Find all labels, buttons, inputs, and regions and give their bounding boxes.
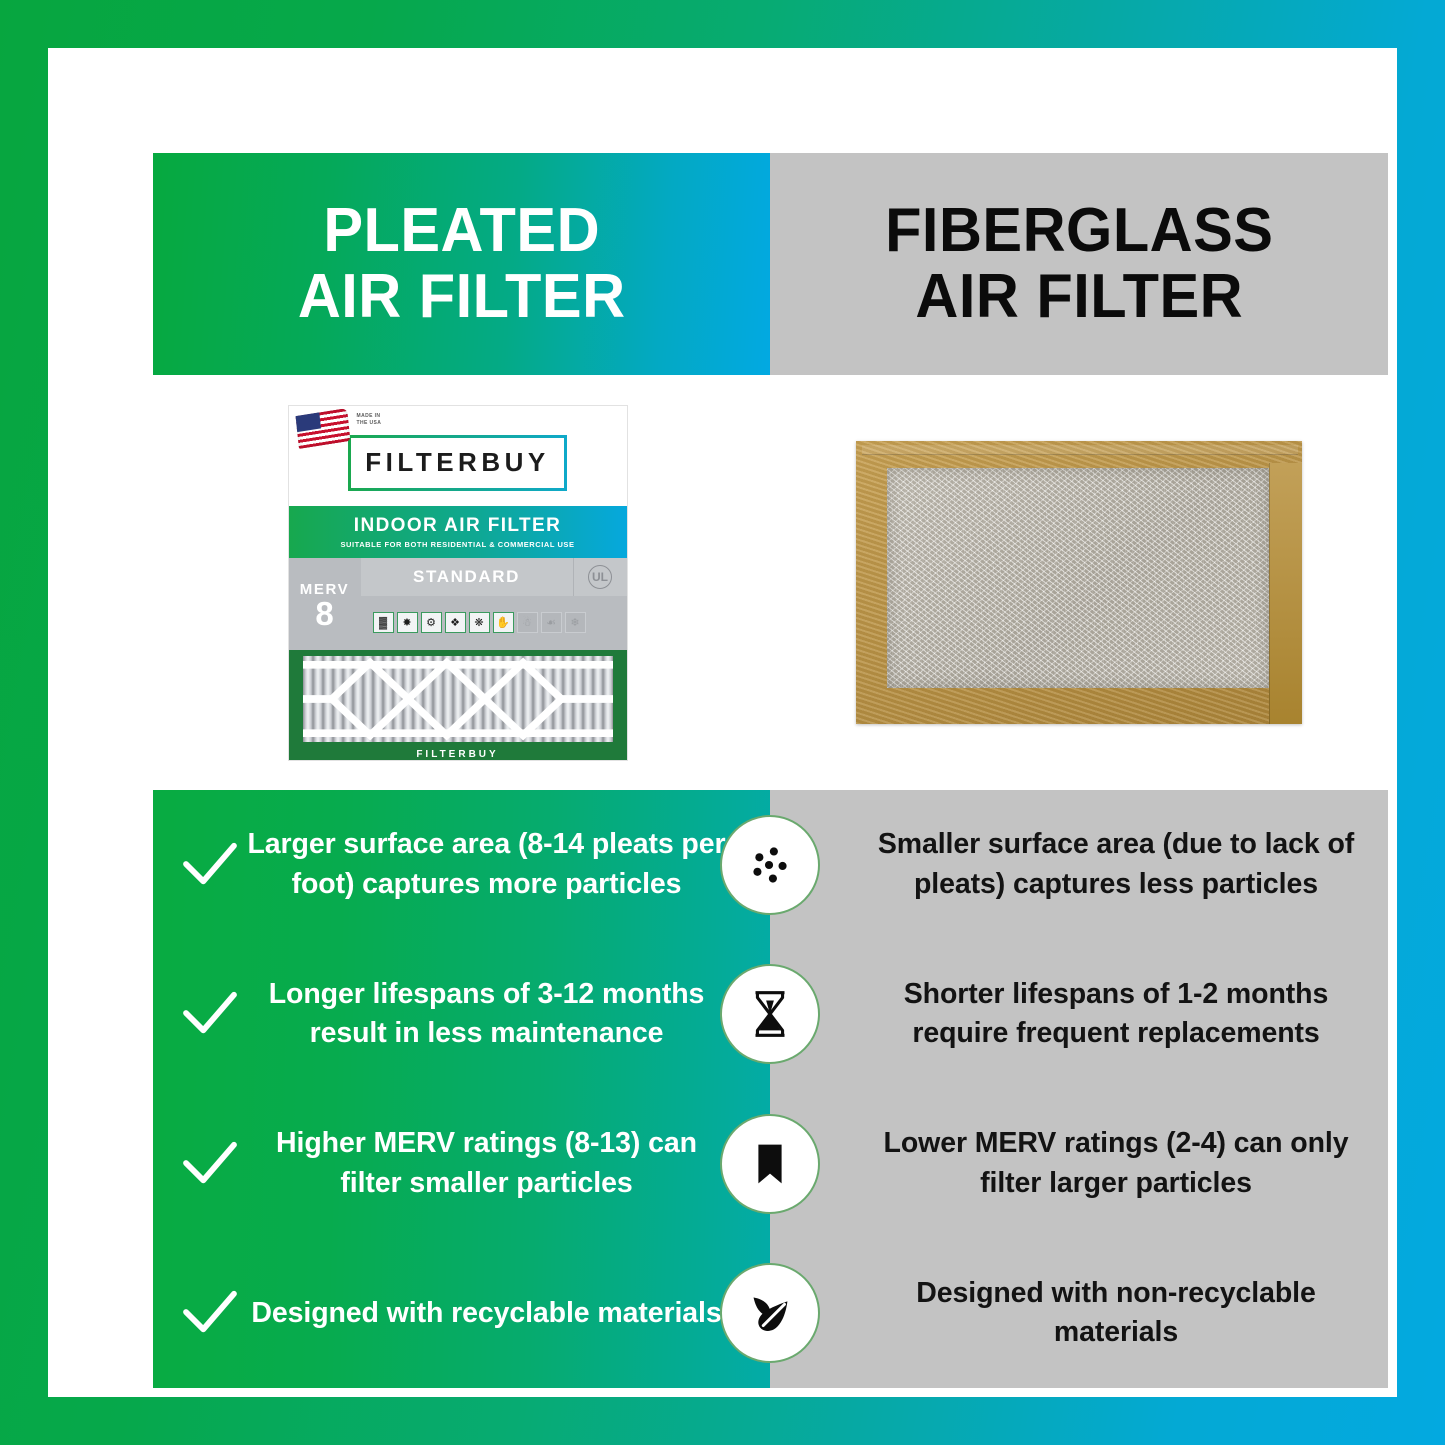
- inner-white-panel: PLEATED AIR FILTER FIBERGLASS AIR FILTER: [48, 48, 1397, 1397]
- dust-mite-icon: ❖: [445, 612, 466, 633]
- dust-lint-icon: ▓: [373, 612, 394, 633]
- comparison-section: Larger surface area (8-14 pleats per foo…: [153, 790, 1388, 1388]
- pleat-texture: [303, 656, 613, 742]
- grade-row: STANDARD UL: [361, 558, 627, 596]
- checkmark-icon: [153, 841, 247, 889]
- pet-dander-icon: ✋: [493, 612, 514, 633]
- mold-icon: ⚙: [421, 612, 442, 633]
- row-fiberglass-text: Shorter lifespans of 1-2 months require …: [862, 975, 1370, 1054]
- checkmark-icon: [153, 990, 247, 1038]
- row-right: Designed with non-recyclable materials: [770, 1274, 1388, 1353]
- bookmark-icon: [720, 1114, 820, 1214]
- checkmark-icon: [153, 1140, 247, 1188]
- fiberglass-filter-image: [856, 441, 1302, 724]
- comparison-row: Higher MERV ratings (8-13) can filter sm…: [153, 1089, 1388, 1239]
- row-pleated-text: Designed with recyclable materials: [247, 1294, 770, 1333]
- brand-logo-frame: FILTERBUY: [348, 435, 566, 491]
- brand-logo-text: FILTERBUY: [365, 447, 549, 478]
- hourglass-icon: [720, 964, 820, 1064]
- row-right: Shorter lifespans of 1-2 months require …: [770, 975, 1388, 1054]
- comparison-card: PLEATED AIR FILTER FIBERGLASS AIR FILTER: [153, 153, 1388, 1388]
- infographic-page: PLEATED AIR FILTER FIBERGLASS AIR FILTER: [0, 0, 1445, 1445]
- header-pleated-title: PLEATED AIR FILTER: [298, 198, 626, 331]
- row-left: Longer lifespans of 3-12 months result i…: [153, 975, 770, 1054]
- smoke-icon: ☃: [517, 612, 538, 633]
- box-top-section: MADE IN THE USA FILTERBUY: [289, 406, 627, 506]
- leaf-icon: [720, 1263, 820, 1363]
- row-left: Higher MERV ratings (8-13) can filter sm…: [153, 1124, 770, 1203]
- header-pleated: PLEATED AIR FILTER: [153, 153, 770, 375]
- bacteria-icon: ❋: [469, 612, 490, 633]
- box-color-band: INDOOR AIR FILTER SUITABLE FOR BOTH RESI…: [289, 506, 627, 558]
- checkmark-icon: [153, 1289, 247, 1337]
- header-fiberglass: FIBERGLASS AIR FILTER: [770, 153, 1388, 375]
- frame-right-post: [1269, 463, 1302, 724]
- ul-icon: UL: [588, 565, 612, 589]
- row-pleated-text: Longer lifespans of 3-12 months result i…: [247, 975, 770, 1054]
- row-pleated-text: Higher MERV ratings (8-13) can filter sm…: [247, 1124, 770, 1203]
- row-fiberglass-text: Designed with non-recyclable materials: [862, 1274, 1370, 1353]
- header-pleated-line1: PLEATED: [298, 198, 626, 264]
- row-pleated-text: Larger surface area (8-14 pleats per foo…: [247, 825, 770, 904]
- pleated-product-cell: MADE IN THE USA FILTERBUY INDOOR AIR FIL…: [153, 375, 770, 790]
- frame-lip: [862, 445, 1298, 455]
- support-mesh-icon: [303, 656, 613, 742]
- row-right: Lower MERV ratings (2-4) can only filter…: [770, 1124, 1388, 1203]
- row-right: Smaller surface area (due to lack of ple…: [770, 825, 1388, 904]
- made-in-usa-text: MADE IN THE USA: [357, 413, 382, 428]
- spec-main: STANDARD UL ▓ ✸ ⚙ ❖: [361, 558, 627, 650]
- box-footer-brand: FILTERBUY: [289, 749, 627, 760]
- row-fiberglass-text: Lower MERV ratings (2-4) can only filter…: [862, 1124, 1370, 1203]
- pleated-media-section: FILTERBUY: [289, 650, 627, 761]
- row-fiberglass-text: Smaller surface area (due to lack of ple…: [862, 825, 1370, 904]
- header-fiberglass-line1: FIBERGLASS: [885, 198, 1273, 264]
- odor-icon: ❄: [565, 612, 586, 633]
- fiberglass-mesh: [887, 468, 1269, 688]
- box-spec-zone: MERV 8 STANDARD UL: [289, 558, 627, 650]
- certification-mark: UL: [573, 558, 627, 596]
- pollen-icon: ✸: [397, 612, 418, 633]
- product-image-strip: MADE IN THE USA FILTERBUY INDOOR AIR FIL…: [153, 375, 1388, 790]
- merv-block: MERV 8: [289, 558, 361, 650]
- merv-value: 8: [315, 598, 333, 629]
- made-in-line2: THE USA: [357, 420, 382, 428]
- particles-icon: [720, 815, 820, 915]
- row-left: Larger surface area (8-14 pleats per foo…: [153, 825, 770, 904]
- header-pleated-line2: AIR FILTER: [298, 264, 626, 330]
- fiberglass-product-cell: [770, 375, 1388, 790]
- usa-flag-icon: [295, 408, 350, 449]
- capability-icon-row: ▓ ✸ ⚙ ❖ ❋ ✋ ☃ ☙ ❄: [361, 596, 627, 650]
- comparison-row: Longer lifespans of 3-12 months result i…: [153, 940, 1388, 1090]
- header-band: PLEATED AIR FILTER FIBERGLASS AIR FILTER: [153, 153, 1388, 375]
- row-left: Designed with recyclable materials: [153, 1289, 770, 1337]
- band-subtitle: SUITABLE FOR BOTH RESIDENTIAL & COMMERCI…: [340, 540, 574, 549]
- made-in-line1: MADE IN: [357, 413, 382, 421]
- comparison-rows: Larger surface area (8-14 pleats per foo…: [153, 790, 1388, 1388]
- grade-label: STANDARD: [361, 567, 573, 587]
- comparison-row: Larger surface area (8-14 pleats per foo…: [153, 790, 1388, 940]
- band-title: INDOOR AIR FILTER: [354, 515, 561, 537]
- virus-icon: ☙: [541, 612, 562, 633]
- comparison-row: Designed with recyclable materials Desig…: [153, 1239, 1388, 1389]
- pleated-filter-box-image: MADE IN THE USA FILTERBUY INDOOR AIR FIL…: [288, 405, 628, 761]
- header-fiberglass-line2: AIR FILTER: [885, 264, 1273, 330]
- header-fiberglass-title: FIBERGLASS AIR FILTER: [885, 198, 1273, 331]
